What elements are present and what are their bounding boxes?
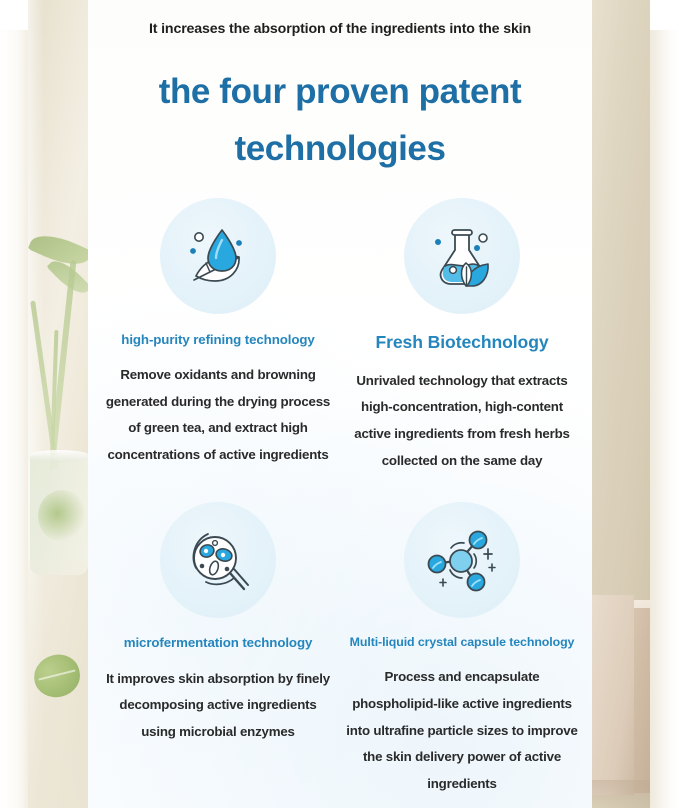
icon-circle [404, 502, 520, 618]
backdrop-right-outer [650, 30, 679, 808]
flask-leaf-icon [426, 220, 498, 292]
technology-card: high-purity refining technology Remove o… [96, 198, 340, 474]
technology-card: microfermentation technology It improves… [96, 502, 340, 797]
page-title-line-1: the four proven patent [159, 72, 522, 111]
backdrop-top-right-white [650, 0, 679, 30]
technology-card: Fresh Biotechnology Unrivaled technology… [340, 198, 584, 474]
backdrop-box-shadow [592, 780, 658, 808]
technology-card: Multi-liquid crystal capsule technology … [340, 502, 584, 797]
card-title: Fresh Biotechnology [346, 331, 578, 354]
page-title: the four proven patent technologies [96, 38, 584, 177]
backdrop-top-left-white [0, 0, 30, 30]
card-title: Multi-liquid crystal capsule technology [346, 634, 578, 650]
molecule-icon [426, 524, 498, 596]
card-body: It improves skin absorption by finely de… [102, 666, 334, 746]
glass-vase-rim [28, 450, 90, 462]
card-body: Unrivaled technology that extracts high-… [346, 368, 578, 474]
icon-circle [404, 198, 520, 314]
water-drop-leaf-icon [182, 220, 254, 292]
page-title-line-2: technologies [234, 129, 445, 168]
eyebrow-text: It increases the absorption of the ingre… [96, 0, 584, 38]
vase-leaf-blur [38, 490, 86, 542]
icon-circle [160, 502, 276, 618]
card-body: Process and encapsulate phospholipid-lik… [346, 664, 578, 797]
infographic-page: It increases the absorption of the ingre… [0, 0, 679, 808]
backdrop-left-outer [0, 30, 30, 808]
magnifier-microbe-icon [182, 524, 254, 596]
card-body: Remove oxidants and browning generated d… [102, 362, 334, 468]
card-title: microfermentation technology [102, 634, 334, 651]
card-title: high-purity refining technology [102, 331, 334, 348]
backdrop-box-front [592, 595, 634, 795]
content-panel: It increases the absorption of the ingre… [88, 0, 592, 808]
technology-card-grid: high-purity refining technology Remove o… [96, 198, 584, 797]
icon-circle [160, 198, 276, 314]
